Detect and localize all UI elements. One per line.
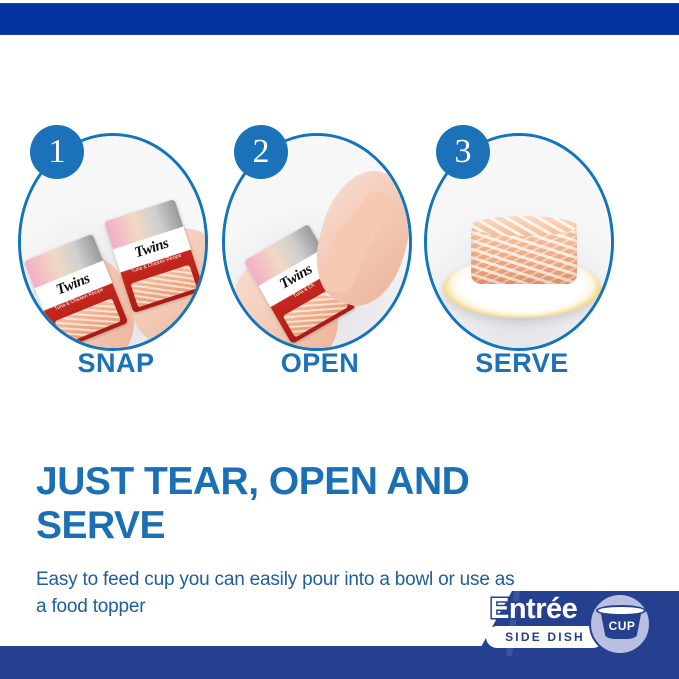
step-3: 3 SERVE xyxy=(424,125,620,375)
top-color-band xyxy=(0,3,679,35)
badge-subtitle: SIDE DISH xyxy=(505,630,585,644)
step-2: Twins Tuna & Ch 2 OPEN xyxy=(222,125,418,375)
food-loaf-top xyxy=(471,216,577,236)
cup-icon-label: CUP xyxy=(591,619,653,633)
cup-icon: CUP xyxy=(589,593,651,655)
step-number-badge: 2 xyxy=(234,125,288,179)
badge-title: Entrée xyxy=(490,593,577,626)
step-caption: SNAP xyxy=(18,348,214,379)
subtitle: Easy to feed cup you can easily pour int… xyxy=(36,567,516,621)
step-number-badge: 3 xyxy=(436,125,490,179)
infographic-page: Twins Tuna & Chicken Recipe Twins Tuna &… xyxy=(0,0,679,679)
step-number-badge: 1 xyxy=(30,125,84,179)
steps-row: Twins Tuna & Chicken Recipe Twins Tuna &… xyxy=(0,125,679,375)
entree-side-dish-badge: Entrée SIDE DISH CUP xyxy=(476,591,679,656)
step-caption: OPEN xyxy=(222,348,418,379)
cup-rim-shape xyxy=(596,605,646,616)
badge-subtitle-pill: SIDE DISH xyxy=(486,626,604,648)
headline: JUST TEAR, OPEN AND SERVE xyxy=(36,460,536,547)
step-caption: SERVE xyxy=(424,348,620,379)
step-1: Twins Tuna & Chicken Recipe Twins Tuna &… xyxy=(18,125,214,375)
